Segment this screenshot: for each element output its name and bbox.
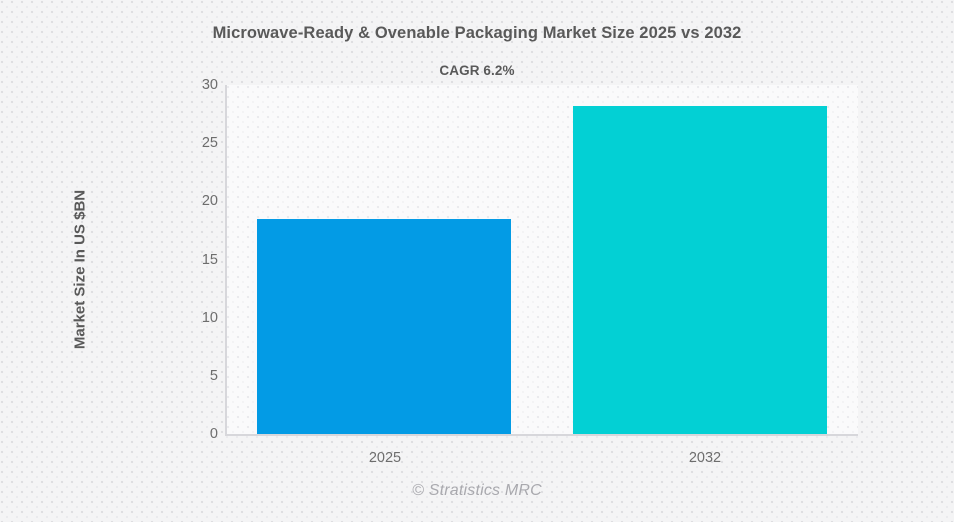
y-tick-label: 25 [178, 135, 218, 151]
chart-canvas: Microwave-Ready & Ovenable Packaging Mar… [0, 0, 954, 522]
y-tick-label: 5 [178, 368, 218, 384]
y-tick-label: 20 [178, 193, 218, 209]
y-tick-label: 10 [178, 310, 218, 326]
x-axis-line [225, 434, 858, 436]
x-tick-label-2032: 2032 [689, 450, 721, 466]
x-tick-label-2025: 2025 [369, 450, 401, 466]
bar-2025[interactable] [257, 219, 511, 434]
bar-2032[interactable] [573, 106, 827, 434]
bars-layer [226, 85, 858, 434]
y-tick-label: 15 [178, 252, 218, 268]
y-axis-title: Market Size In US $BN [72, 110, 89, 430]
y-tick-label: 0 [178, 426, 218, 442]
copyright-credit: © Stratistics MRC [0, 482, 954, 500]
chart-title: Microwave-Ready & Ovenable Packaging Mar… [0, 24, 954, 43]
cagr-annotation: CAGR 6.2% [0, 63, 954, 78]
y-axis-tick-labels: 30 25 20 15 10 5 0 [170, 0, 218, 522]
y-tick-label: 30 [178, 77, 218, 93]
